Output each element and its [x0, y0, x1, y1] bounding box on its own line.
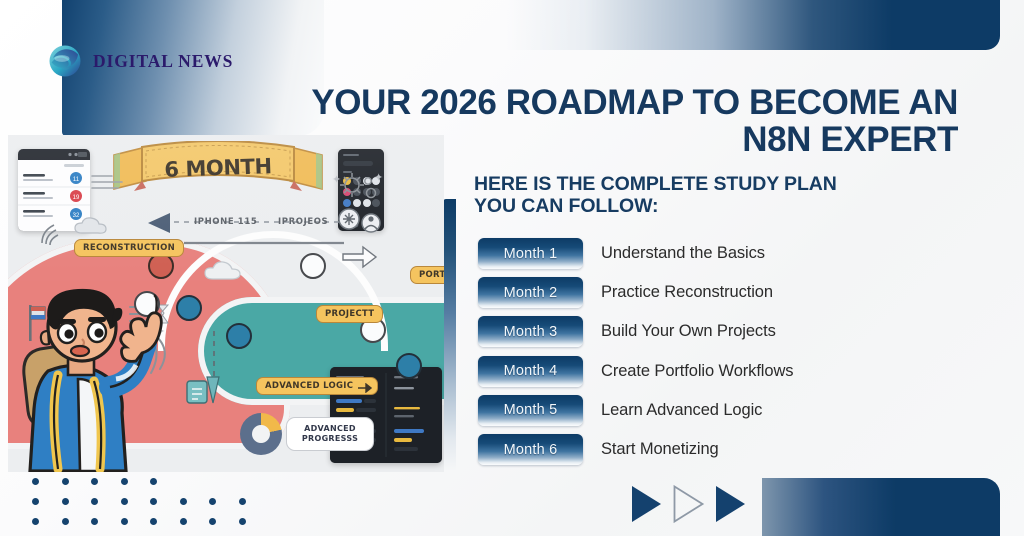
swirl-globe-icon — [48, 44, 82, 78]
triangle-left-icon — [146, 211, 176, 235]
solid-connector-line — [184, 241, 344, 245]
dot — [121, 518, 128, 525]
dot-grid-row — [32, 498, 246, 505]
study-plan-list: Month 1 Understand the Basics Month 2 Pr… — [478, 234, 948, 469]
play-triangle-filled-icon — [630, 484, 664, 524]
subheading-line-2: YOU CAN FOLLOW: — [474, 195, 658, 217]
dot — [32, 498, 39, 505]
illustration-label-advanced-logic-text: ADVANCED LOGIC — [265, 381, 353, 391]
list-item: Month 1 Understand the Basics — [478, 234, 948, 273]
sparkle-icon: ✦ — [374, 171, 383, 184]
brand-logo[interactable]: DIGITAL NEWS — [48, 44, 233, 78]
list-item: Month 2 Practice Reconstruction — [478, 273, 948, 312]
month-task-2: Practice Reconstruction — [601, 283, 773, 302]
illustration-node-teal-3 — [396, 353, 422, 379]
illustration-label-portfolio: PORTFIO — [410, 266, 444, 284]
dashed-vertical-connector — [212, 331, 216, 377]
play-triangle-filled-icon — [714, 484, 748, 524]
footer-triangles — [630, 484, 748, 524]
svg-text:19: 19 — [73, 195, 80, 201]
cloud-doodle-icon — [204, 259, 250, 285]
dot — [32, 518, 39, 525]
dot — [180, 498, 187, 505]
cloud-doodle-icon — [74, 215, 118, 239]
headline-line-1: YOUR 2026 ROADMAP TO BECOME AN — [311, 83, 958, 122]
month-badge-2: Month 2 — [478, 277, 583, 308]
decorative-top-right-gradient-bar — [506, 0, 1000, 50]
dot — [239, 498, 246, 505]
month-badge-label: Month 4 — [504, 363, 558, 379]
arrow-right-small-icon — [358, 383, 372, 393]
month-badge-1: Month 1 — [478, 238, 583, 269]
illustration-node-teal-1 — [226, 323, 252, 349]
month-badge-label: Month 3 — [504, 324, 558, 340]
page-title: YOUR 2026 ROADMAP TO BECOME AN N8N EXPER… — [196, 84, 958, 158]
dot — [209, 518, 216, 525]
decorative-dot-grid — [32, 478, 246, 536]
illustration-sketch-label-iphone: IPHONE 115 — [194, 217, 257, 227]
dot — [150, 498, 157, 505]
dot — [91, 518, 98, 525]
month-task-4: Create Portfolio Workflows — [601, 362, 793, 381]
month-badge-label: Month 2 — [504, 285, 558, 301]
illustration-label-advanced-logic: ADVANCED LOGIC — [256, 377, 378, 395]
dot-grid-row — [32, 478, 246, 485]
headline-line-2: N8N EXPERT — [742, 120, 958, 159]
sparkle-icon: ✦ — [332, 173, 341, 186]
play-triangle-outline-icon — [672, 484, 706, 524]
illustration-label-advanced-progress-line-1: ADVANCED — [304, 424, 356, 433]
roadmap-illustration: 11 19 32 — [8, 135, 444, 472]
dot — [121, 498, 128, 505]
list-item: Month 3 Build Your Own Projects — [478, 312, 948, 351]
brand-name: DIGITAL NEWS — [93, 51, 233, 72]
month-badge-label: Month 1 — [504, 246, 558, 262]
decorative-vertical-gradient-divider — [443, 199, 456, 471]
dot — [180, 518, 187, 525]
month-badge-5: Month 5 — [478, 395, 583, 426]
dot — [91, 478, 98, 485]
month-badge-4: Month 4 — [478, 356, 583, 387]
dot-grid-row — [32, 518, 246, 525]
month-badge-label: Month 6 — [504, 442, 558, 458]
month-badge-6: Month 6 — [478, 434, 583, 465]
illustration-label-advanced-progress-line-2: PROGRESSS — [302, 434, 358, 443]
month-task-3: Build Your Own Projects — [601, 322, 776, 341]
dot — [121, 478, 128, 485]
illustration-sketch-label-iprojeos: IPROJEOS — [278, 217, 328, 227]
month-task-5: Learn Advanced Logic — [601, 401, 762, 420]
month-badge-3: Month 3 — [478, 316, 583, 347]
subheading: HERE IS THE COMPLETE STUDY PLAN YOU CAN … — [474, 174, 944, 218]
month-task-6: Start Monetizing — [601, 440, 719, 459]
dot — [209, 498, 216, 505]
month-badge-label: Month 5 — [504, 402, 558, 418]
month-task-1: Understand the Basics — [601, 244, 765, 263]
illustration-donut-chart — [240, 413, 282, 455]
wifi-signal-doodle-icon — [38, 219, 62, 247]
dot — [91, 498, 98, 505]
illustration-label-advanced-progress: ADVANCED PROGRESSS — [286, 417, 374, 451]
text-lines-doodle-icon — [90, 173, 124, 191]
arrow-right-outline-icon — [342, 245, 378, 269]
dot — [150, 478, 157, 485]
list-item: Month 5 Learn Advanced Logic — [478, 391, 948, 430]
dot — [150, 518, 157, 525]
poster-canvas: DIGITAL NEWS YOUR 2026 ROADMAP TO BECOME… — [0, 0, 1024, 536]
illustration-label-reconstruction: RECONSTRUCTION — [74, 239, 184, 257]
subheading-line-1: HERE IS THE COMPLETE STUDY PLAN — [474, 173, 837, 195]
dot — [62, 518, 69, 525]
illustration-label-projectt: PROJECTT — [316, 305, 383, 323]
list-item: Month 6 Start Monetizing — [478, 430, 948, 469]
dot — [62, 478, 69, 485]
list-item: Month 4 Create Portfolio Workflows — [478, 352, 948, 391]
decorative-bottom-right-navy-block — [762, 478, 1000, 536]
svg-text:11: 11 — [73, 177, 80, 183]
illustration-node-plain-3 — [300, 253, 326, 279]
dot — [62, 498, 69, 505]
dot — [32, 478, 39, 485]
student-character-illustration — [18, 283, 208, 472]
dot — [239, 518, 246, 525]
